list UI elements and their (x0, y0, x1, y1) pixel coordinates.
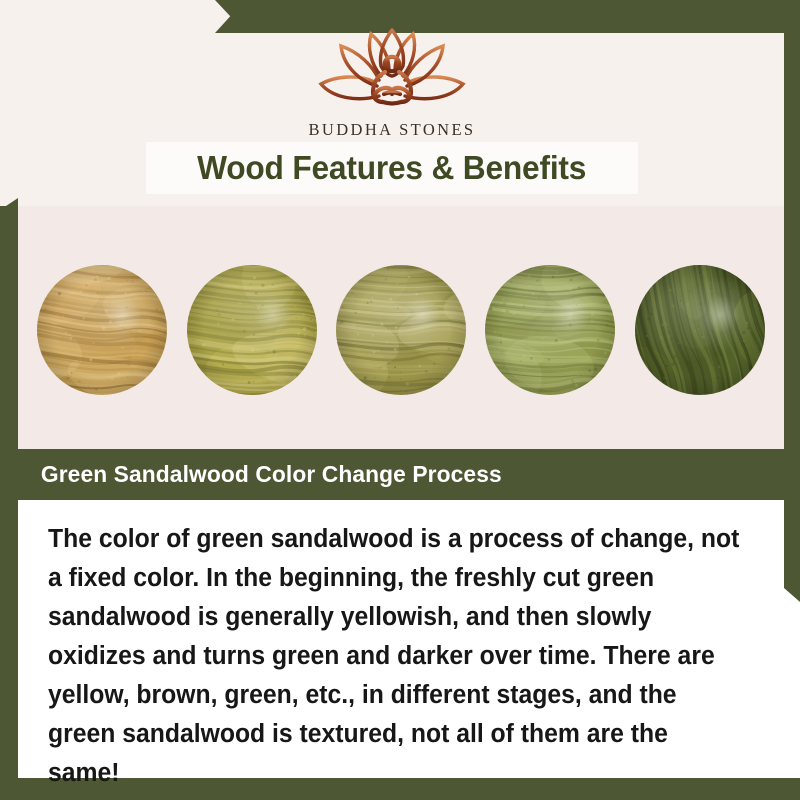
frame-strip-right (784, 0, 800, 602)
section-title: Green Sandalwood Color Change Process (25, 461, 501, 488)
description-paragraph: The color of green sandalwood is a proce… (48, 520, 743, 793)
bead-stage-3-olive (336, 265, 466, 395)
bead-stage-2-yellow-green (187, 265, 317, 395)
poster-canvas: BUDDHA STONES Wood Features & Benefits G… (0, 0, 800, 800)
brand-name: BUDDHA STONES (308, 120, 475, 140)
lotus-meditation-icon (307, 24, 477, 116)
bead-stage-4-green (485, 265, 615, 395)
bead-stage-1-golden-tan (37, 265, 167, 395)
bead-specular-shading (635, 265, 765, 395)
frame-strip-left (0, 198, 18, 800)
page-title: Wood Features & Benefits (197, 149, 586, 187)
section-banner: Green Sandalwood Color Change Process (18, 449, 578, 500)
page-title-banner: Wood Features & Benefits (146, 142, 638, 194)
bead-specular-shading (336, 265, 466, 395)
bead-specular-shading (187, 265, 317, 395)
wood-bead-gallery (18, 255, 784, 405)
bead-specular-shading (485, 265, 615, 395)
bead-stage-5-dark-green (635, 265, 765, 395)
bead-specular-shading (37, 265, 167, 395)
brand-logo: BUDDHA STONES (0, 24, 784, 140)
